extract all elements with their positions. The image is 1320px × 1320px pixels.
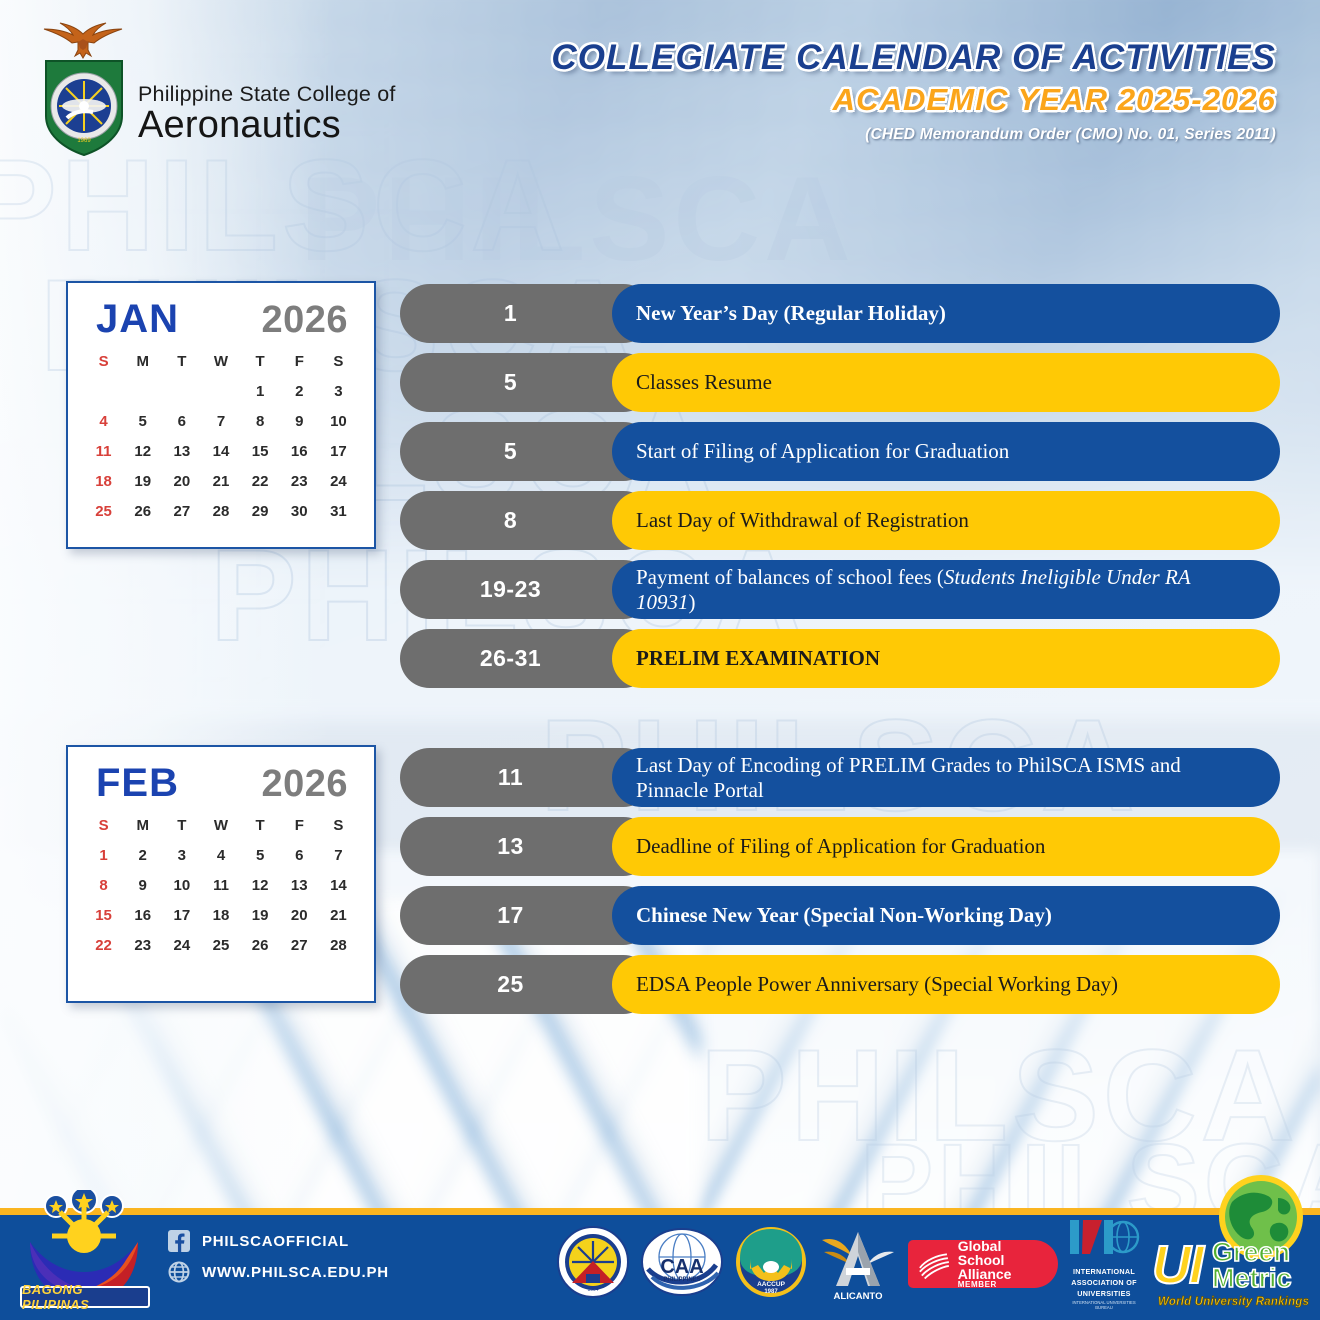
event-label-pill: Last Day of Withdrawal of Registration — [612, 491, 1280, 550]
aaccup-icon: AACCUP 1987 — [734, 1225, 808, 1299]
page-footer: BAGONG PILIPINAS PHILSCAOFFICIAL WWW.PHI… — [0, 1208, 1320, 1320]
contact-block: PHILSCAOFFICIAL WWW.PHILSCA.EDU.PH — [168, 1230, 389, 1292]
calendar-day[interactable]: 8 — [241, 406, 280, 436]
calendar-day[interactable]: 10 — [319, 406, 358, 436]
calendar-day[interactable]: 11 — [84, 436, 123, 466]
calendar-day-empty — [84, 376, 123, 406]
event-label-pill: Last Day of Encoding of PRELIM Grades to… — [612, 748, 1280, 807]
event-label-pill: EDSA People Power Anniversary (Special W… — [612, 955, 1280, 1014]
event-label-pill: Chinese New Year (Special Non-Working Da… — [612, 886, 1280, 945]
calendar-day[interactable]: 19 — [123, 466, 162, 496]
alicanto-icon: ALICANTO — [818, 1222, 898, 1302]
calendar-day[interactable]: 22 — [84, 930, 123, 960]
calendar-dow-header: F — [280, 811, 319, 840]
event-label-text: Payment of balances of school fees (Stud… — [636, 565, 1250, 613]
calendar-day[interactable]: 15 — [84, 900, 123, 930]
calendar-day[interactable]: 9 — [123, 870, 162, 900]
bagong-pilipinas-logo: BAGONG PILIPINAS — [14, 1190, 154, 1314]
contact-facebook[interactable]: PHILSCAOFFICIAL — [168, 1230, 389, 1252]
caa-philippines-icon: CAA PHILIPPINES — [640, 1225, 724, 1299]
calendar-day[interactable]: 13 — [162, 436, 201, 466]
philsca-seal-icon: 1969 — [43, 58, 125, 158]
calendar-dow-header: F — [280, 347, 319, 376]
gsa-line-2: School Alliance — [958, 1253, 1058, 1282]
calendar-dow-header: W — [201, 347, 240, 376]
event-label-pill: Payment of balances of school fees (Stud… — [612, 560, 1280, 619]
gsa-line-1: Global — [958, 1239, 1058, 1253]
brand-text: Philippine State College of Aeronautics — [138, 84, 396, 161]
calendar-dow-header: W — [201, 811, 240, 840]
calendar-dow-header: T — [162, 811, 201, 840]
calendar-day[interactable]: 2 — [123, 840, 162, 870]
uigm-subtitle: World University Rankings — [1158, 1296, 1309, 1308]
calendar-day[interactable]: 23 — [123, 930, 162, 960]
calendar-grid: SMTWTFS123456789101112131415161718192021… — [68, 805, 374, 960]
calendar-day[interactable]: 21 — [201, 466, 240, 496]
iau-line-3: UNIVERSITIES — [1068, 1289, 1140, 1298]
calendar-dow-header: S — [319, 347, 358, 376]
brand-line-1: Philippine State College of — [138, 84, 396, 106]
iau-line-1: INTERNATIONAL — [1068, 1267, 1140, 1276]
calendar-day[interactable]: 18 — [84, 466, 123, 496]
calendar-day[interactable]: 20 — [280, 900, 319, 930]
calendar-day[interactable]: 25 — [84, 496, 123, 526]
event-label-text: Last Day of Encoding of PRELIM Grades to… — [636, 753, 1250, 801]
calendar-day[interactable]: 31 — [319, 496, 358, 526]
event-label-text: New Year’s Day (Regular Holiday) — [636, 301, 946, 325]
partner-ched: 1994 — [556, 1225, 630, 1304]
calendar-day[interactable]: 16 — [280, 436, 319, 466]
event-label-pill: Classes Resume — [612, 353, 1280, 412]
svg-text:CAA: CAA — [660, 1256, 703, 1278]
calendar-day[interactable]: 24 — [319, 466, 358, 496]
calendar-day[interactable]: 6 — [280, 840, 319, 870]
iau-line-4: INTERNATIONAL UNIVERSITIES BUREAU — [1068, 1300, 1140, 1310]
calendar-day[interactable]: 11 — [201, 870, 240, 900]
contact-website[interactable]: WWW.PHILSCA.EDU.PH — [168, 1261, 389, 1283]
calendar-day-empty — [201, 376, 240, 406]
calendar-day[interactable]: 17 — [162, 900, 201, 930]
calendar-day[interactable]: 5 — [123, 406, 162, 436]
partner-global-school-alliance: Global School Alliance MEMBER — [908, 1240, 1058, 1288]
event-label-pill: Start of Filing of Application for Gradu… — [612, 422, 1280, 481]
iau-line-2: ASSOCIATION OF — [1068, 1278, 1140, 1287]
event-label-text: Classes Resume — [636, 370, 772, 394]
calendar-day[interactable]: 26 — [241, 930, 280, 960]
calendar-day[interactable]: 29 — [241, 496, 280, 526]
calendar-day[interactable]: 27 — [280, 930, 319, 960]
calendar-header: JAN2026 — [68, 283, 374, 341]
facebook-icon — [168, 1230, 190, 1252]
svg-text:ALICANTO: ALICANTO — [834, 1291, 883, 1302]
calendar-header: FEB2026 — [68, 747, 374, 805]
calendar-day[interactable]: 27 — [162, 496, 201, 526]
event-label-text: EDSA People Power Anniversary (Special W… — [636, 972, 1118, 996]
partner-logos: 1994 CAA PHILIPPINES AACCUP — [556, 1214, 1320, 1314]
calendar-day[interactable]: 28 — [201, 496, 240, 526]
brand-block: 1969 Philippine State College of Aeronau… — [34, 20, 396, 160]
calendar-day[interactable]: 9 — [280, 406, 319, 436]
calendar-day[interactable]: 3 — [162, 840, 201, 870]
calendar-day[interactable]: 1 — [241, 376, 280, 406]
calendar-day[interactable]: 26 — [123, 496, 162, 526]
calendar-dow-header: M — [123, 347, 162, 376]
calendar-day[interactable]: 21 — [319, 900, 358, 930]
page-note: (CHED Memorandum Order (CMO) No. 01, Ser… — [551, 126, 1276, 144]
calendar-grid: SMTWTFS 12345678910111213141516171819202… — [68, 341, 374, 526]
global-school-alliance-icon — [916, 1246, 951, 1282]
partner-iau: INTERNATIONAL ASSOCIATION OF UNIVERSITIE… — [1068, 1218, 1140, 1310]
calendar-day[interactable]: 7 — [201, 406, 240, 436]
calendar-day[interactable]: 12 — [123, 436, 162, 466]
page-header: 1969 Philippine State College of Aeronau… — [0, 0, 1320, 180]
svg-text:PHILIPPINES: PHILIPPINES — [663, 1277, 700, 1283]
calendar-month-label: JAN — [96, 299, 179, 339]
calendar-day[interactable]: 6 — [162, 406, 201, 436]
globe-icon — [168, 1261, 190, 1283]
calendar-year-label: 2026 — [261, 301, 348, 339]
calendar-dow-header: T — [162, 347, 201, 376]
iau-icon — [1068, 1218, 1140, 1260]
calendar-month-label: FEB — [96, 763, 179, 803]
calendar-day[interactable]: 18 — [201, 900, 240, 930]
calendar-dow-header: S — [84, 347, 123, 376]
partner-aaccup: AACCUP 1987 — [734, 1225, 808, 1304]
calendar-day[interactable]: 7 — [319, 840, 358, 870]
event-label-text: PRELIM EXAMINATION — [636, 646, 880, 670]
calendar-day[interactable]: 23 — [280, 466, 319, 496]
calendar-dow-header: M — [123, 811, 162, 840]
calendar-dow-header: T — [241, 811, 280, 840]
title-block: COLLEGIATE CALENDAR OF ACTIVITIES ACADEM… — [551, 38, 1276, 144]
partner-alicanto: ALICANTO — [818, 1222, 898, 1307]
philsca-logo: 1969 — [34, 20, 130, 160]
partner-caa: CAA PHILIPPINES — [640, 1225, 724, 1304]
calendar-day[interactable]: 10 — [162, 870, 201, 900]
event-label-pill: PRELIM EXAMINATION — [612, 629, 1280, 688]
event-label-pill: Deadline of Filing of Application for Gr… — [612, 817, 1280, 876]
calendar-day[interactable]: 12 — [241, 870, 280, 900]
calendar-year-label: 2026 — [261, 765, 348, 803]
calendar-day[interactable]: 30 — [280, 496, 319, 526]
page-subtitle: ACADEMIC YEAR 2025-2026 — [551, 82, 1276, 118]
event-label-text: Chinese New Year (Special Non-Working Da… — [636, 903, 1052, 927]
event-label-text: Last Day of Withdrawal of Registration — [636, 508, 969, 532]
calendar-day[interactable]: 3 — [319, 376, 358, 406]
calendar-card-jan: JAN2026SMTWTFS 1234567891011121314151617… — [66, 281, 376, 549]
calendar-day[interactable]: 1 — [84, 840, 123, 870]
calendar-day[interactable]: 4 — [84, 406, 123, 436]
ched-seal-icon: 1994 — [556, 1225, 630, 1299]
calendar-day[interactable]: 13 — [280, 870, 319, 900]
calendar-dow-header: T — [241, 347, 280, 376]
calendar-day[interactable]: 2 — [280, 376, 319, 406]
calendar-dow-header: S — [319, 811, 358, 840]
calendar-dow-header: S — [84, 811, 123, 840]
svg-text:1987: 1987 — [764, 1289, 778, 1295]
brand-line-2: Aeronautics — [138, 106, 396, 144]
calendar-day[interactable]: 28 — [319, 930, 358, 960]
calendar-day[interactable]: 8 — [84, 870, 123, 900]
calendar-day[interactable]: 17 — [319, 436, 358, 466]
calendar-day-empty — [162, 376, 201, 406]
partner-ui-greenmetric: UI Green Metric World University Ranking… — [1150, 1214, 1320, 1314]
page-title: COLLEGIATE CALENDAR OF ACTIVITIES — [551, 38, 1276, 78]
gsa-line-3: MEMBER — [958, 1281, 1058, 1289]
calendar-day[interactable]: 14 — [201, 436, 240, 466]
calendar-day[interactable]: 19 — [241, 900, 280, 930]
svg-text:1969: 1969 — [77, 138, 91, 144]
calendar-day[interactable]: 14 — [319, 870, 358, 900]
uigm-ui-text: UI — [1152, 1234, 1202, 1296]
calendar-day[interactable]: 25 — [201, 930, 240, 960]
calendar-day[interactable]: 22 — [241, 466, 280, 496]
contact-facebook-label: PHILSCAOFFICIAL — [202, 1233, 349, 1250]
event-label-pill: New Year’s Day (Regular Holiday) — [612, 284, 1280, 343]
calendar-day[interactable]: 4 — [201, 840, 240, 870]
calendar-day[interactable]: 16 — [123, 900, 162, 930]
event-label-italic: Students Ineligible Under RA 10931 — [636, 565, 1190, 613]
calendar-card-feb: FEB2026SMTWTFS12345678910111213141516171… — [66, 745, 376, 1003]
event-label-text: Deadline of Filing of Application for Gr… — [636, 834, 1045, 858]
calendar-day[interactable]: 5 — [241, 840, 280, 870]
event-label-text: Start of Filing of Application for Gradu… — [636, 439, 1009, 463]
uigm-metric-text: Metric — [1212, 1263, 1292, 1294]
contact-website-label: WWW.PHILSCA.EDU.PH — [202, 1264, 389, 1281]
calendar-day[interactable]: 24 — [162, 930, 201, 960]
calendar-day[interactable]: 15 — [241, 436, 280, 466]
svg-text:1994: 1994 — [587, 1287, 598, 1293]
calendar-day-empty — [123, 376, 162, 406]
bagong-pilipinas-label: BAGONG PILIPINAS — [20, 1286, 150, 1308]
calendar-day[interactable]: 20 — [162, 466, 201, 496]
svg-text:AACCUP: AACCUP — [757, 1281, 785, 1288]
